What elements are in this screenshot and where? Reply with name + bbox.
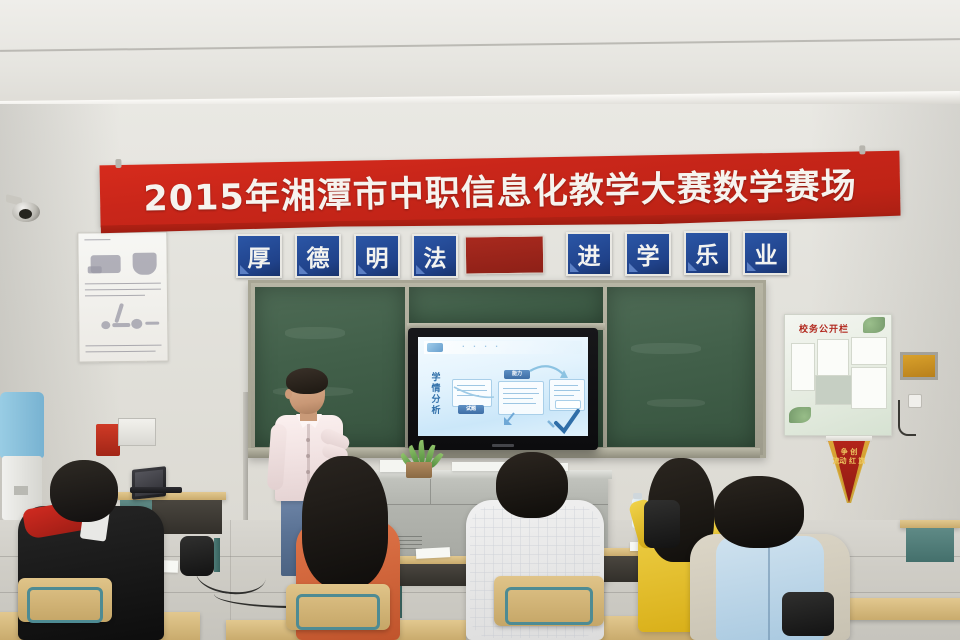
motto-char: 厚 (248, 239, 271, 273)
wall-warning-sign (900, 352, 938, 380)
motto-placard-5: 进 (566, 232, 612, 276)
slide-arrows (418, 337, 588, 436)
motto-char: 乐 (696, 236, 719, 270)
motto-placard-6: 学 (625, 232, 671, 276)
security-camera-icon (6, 196, 40, 222)
motto-placard-3: 明 (354, 234, 400, 278)
banner-text: 2015年湘潭市中职信息化教学大赛数学赛场 (99, 151, 900, 228)
tv-brand-mark (492, 444, 514, 447)
desk-top (900, 520, 960, 528)
plant-pot (406, 462, 432, 478)
motto-placard-4: 法 (412, 234, 458, 278)
observer-blue-head (714, 476, 804, 548)
student-head (50, 460, 118, 522)
motto-placard-7: 乐 (684, 231, 730, 275)
motto-char: 德 (307, 239, 330, 273)
classroom-scene: 2015年湘潭市中职信息化教学大赛数学赛场 厚 德 明 法 进 学 乐 业 校务… (0, 0, 960, 640)
motto-char: 明 (366, 239, 389, 273)
motto-placard-1: 厚 (236, 234, 282, 278)
slide-content: · · · · 学情分析 试题 能力 (418, 337, 588, 436)
wall-pipe (243, 392, 248, 522)
motto-char: 进 (578, 237, 601, 271)
observer-orange-hair (302, 456, 388, 588)
fire-alarm-box (96, 424, 120, 456)
podium-papers (380, 460, 406, 472)
motto-char: 学 (637, 237, 660, 271)
pennant-text: 争 创 流动 红 旗 (828, 448, 870, 466)
motto-placard-2: 德 (295, 234, 341, 278)
teacher-hair (286, 368, 328, 394)
red-wall-plaque (465, 235, 545, 274)
laptop[interactable] (132, 466, 166, 500)
bag (180, 536, 214, 576)
paper-sheet (416, 547, 450, 559)
socket-cord (898, 400, 916, 436)
teacher-ear (285, 389, 292, 399)
wall-control-box (118, 418, 156, 446)
bulletin-board: 校务公开栏 (784, 314, 892, 436)
desk-body (906, 528, 954, 562)
water-cooler-tap[interactable] (14, 486, 28, 495)
technical-drawing-poster (77, 232, 168, 363)
water-cooler-bottle (0, 392, 44, 458)
bag (782, 592, 834, 636)
event-banner: 2015年湘潭市中职信息化教学大赛数学赛场 (99, 151, 900, 228)
observer-check-head (496, 452, 568, 518)
bulletin-title: 校务公开栏 (799, 322, 849, 335)
chair-back[interactable] (286, 584, 390, 630)
bag (644, 500, 680, 548)
chalkboard-panel-center-top (409, 287, 603, 325)
motto-char: 业 (755, 236, 778, 270)
blouse-seam (768, 540, 770, 640)
chalkboard-panel-right (607, 287, 755, 447)
motto-char: 法 (424, 239, 447, 273)
chair-back[interactable] (18, 578, 112, 622)
motto-placard-8: 业 (743, 231, 789, 275)
chair-back[interactable] (494, 576, 604, 626)
display-screen[interactable]: · · · · 学情分析 试题 能力 (408, 328, 598, 450)
laptop-base (130, 487, 182, 493)
